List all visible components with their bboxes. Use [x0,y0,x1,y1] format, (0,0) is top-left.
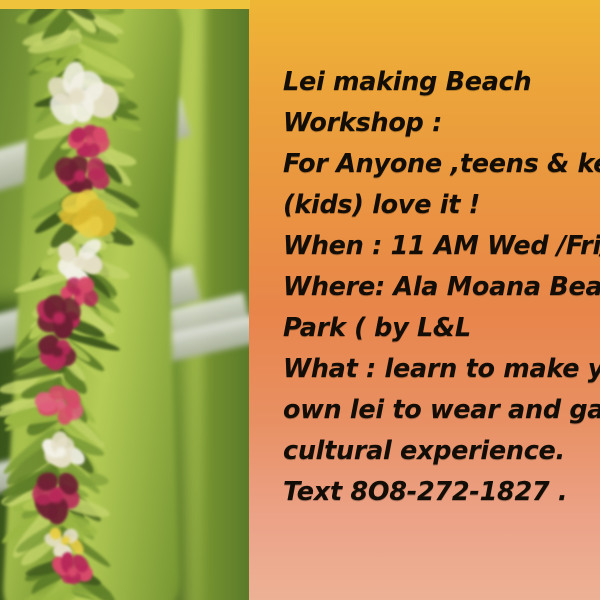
flyer-line-6: Where: Ala Moana Beach [283,267,600,308]
flyer-line-9: own lei to wear and gain [283,390,600,431]
hawaiian-flower-lei-photo [0,0,249,600]
flyer-line-3: For Anyone ,teens & keiki [283,144,600,185]
lei-flower-center [68,567,78,577]
flyer-line-11: Text 8O8-272-1827 . [283,472,600,513]
flyer-line-2: Workshop : [283,103,600,144]
flyer-line-5: When : 11 AM Wed /Fri/Sat [283,226,600,267]
lei-flower-center [61,536,70,545]
flyer-line-8: What : learn to make your [283,349,600,390]
flyer-line-1: Lei making Beach [283,62,600,103]
flyer-line-4: (kids) love it ! [283,185,600,226]
lei-flower-center [49,489,62,502]
lei-flower-center [69,88,85,104]
top-accent-strip [0,0,250,9]
photo-canvas [0,0,249,600]
flyer-text-block: Lei making Beach Workshop : For Anyone ,… [283,62,600,513]
lei-flower-center [78,207,92,221]
flyer-line-7: Park ( by L&L [283,308,600,349]
lei-flower-center [56,399,66,409]
lei-flower-center [52,347,62,357]
flyer-line-10: cultural experience. [283,431,600,472]
lei-workshop-flyer: Lei making Beach Workshop : For Anyone ,… [0,0,600,600]
lei-flower-center [85,136,94,145]
lei-flower-center [74,256,86,268]
